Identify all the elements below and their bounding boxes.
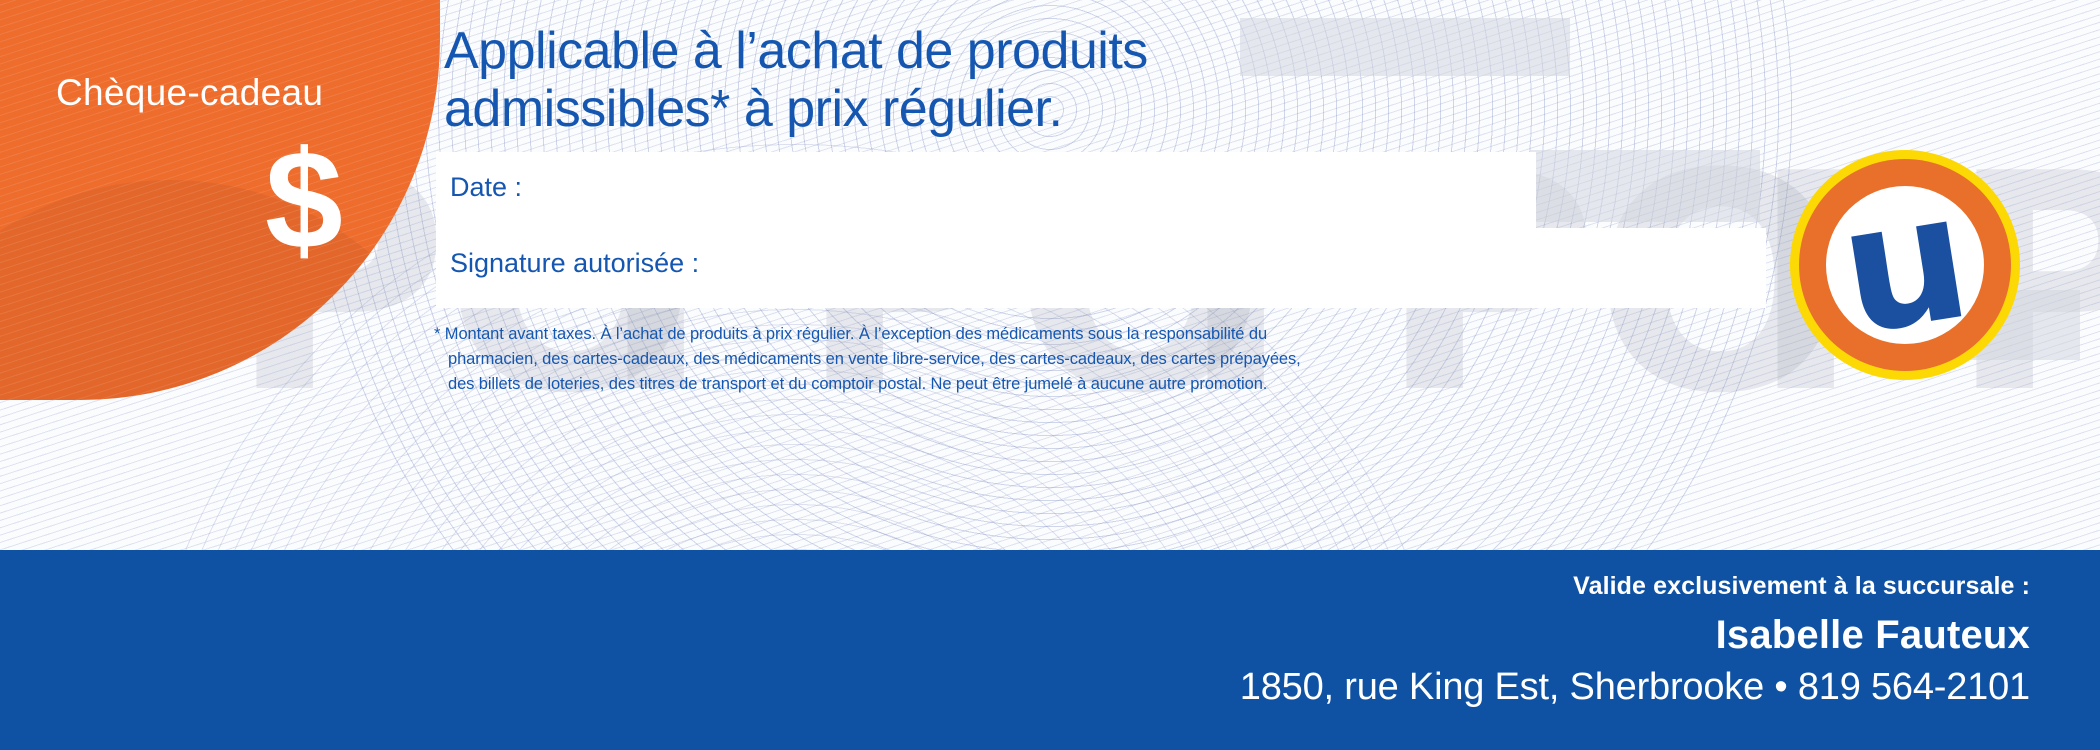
disclaimer-line-3: des billets de loteries, des titres de t… <box>434 372 1294 397</box>
pharmacist-name: Isabelle Fauteux <box>1240 613 2030 658</box>
uniprix-logo: u <box>1790 150 2020 380</box>
disclaimer-line-2: pharmacien, des cartes-cadeaux, des médi… <box>434 347 1294 372</box>
watermark-block <box>1530 150 1760 222</box>
dollar-sign-icon: $ <box>265 130 343 270</box>
signature-field-label: Signature autorisée : <box>450 248 699 279</box>
headline-line-1: Applicable à l’achat de produits <box>444 22 1444 80</box>
footer-validity-label: Valide exclusivement à la succursale : <box>1240 572 2030 601</box>
store-info: Valide exclusivement à la succursale : I… <box>1240 572 2030 709</box>
headline-line-2: admissibles* à prix régulier. <box>444 80 1444 138</box>
footer-bar: Valide exclusivement à la succursale : I… <box>0 550 2100 750</box>
orange-left-panel <box>0 0 440 400</box>
store-address-phone: 1850, rue King Est, Sherbrooke • 819 564… <box>1240 666 2030 709</box>
cheque-cadeau-title: Chèque-cadeau <box>56 72 323 114</box>
logo-u-letter: u <box>1832 184 1978 345</box>
gift-certificate: FPO FPO FPO FPO Chèque-cadeau $ Applicab… <box>0 0 2100 750</box>
disclaimer-line-1: * Montant avant taxes. À l’achat de prod… <box>434 322 1294 347</box>
headline: Applicable à l’achat de produits admissi… <box>444 22 1444 138</box>
date-field-label: Date : <box>450 172 522 203</box>
disclaimer-text: * Montant avant taxes. À l’achat de prod… <box>434 322 1294 397</box>
